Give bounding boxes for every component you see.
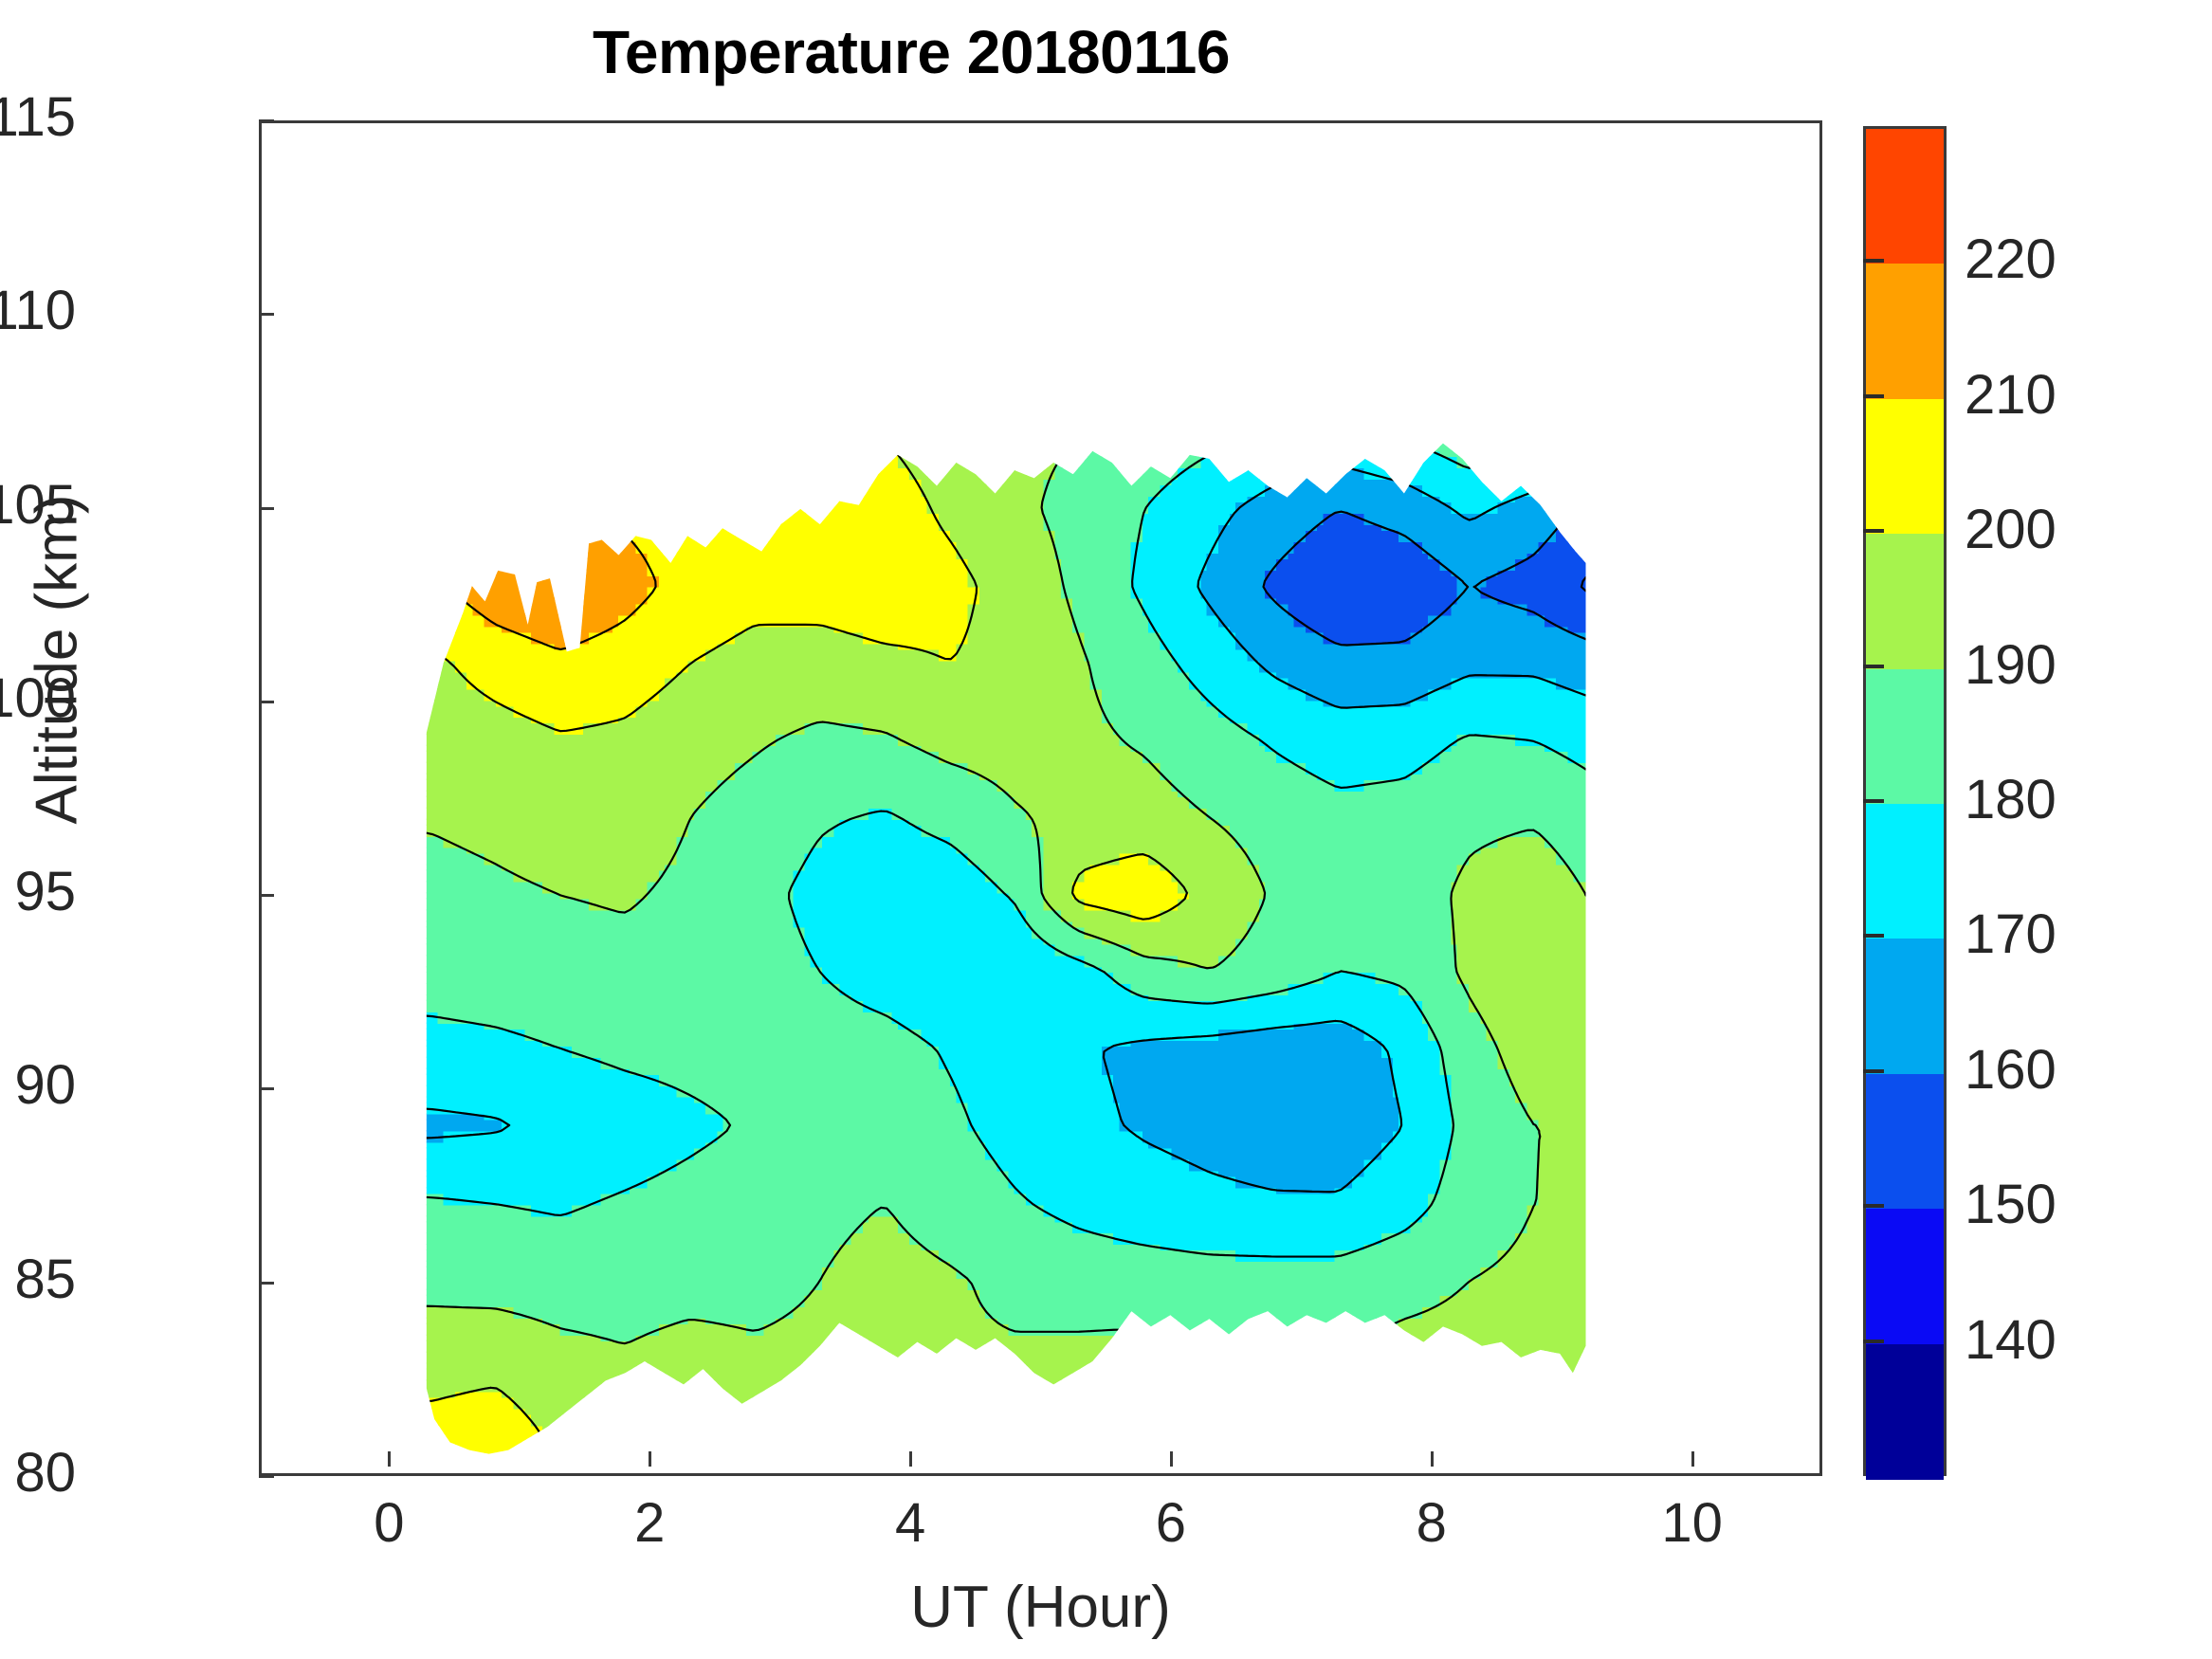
colorbar-tick-mark (1863, 529, 1884, 533)
y-tick-mark (259, 507, 274, 510)
colorbar-tick-mark (1863, 665, 1884, 668)
y-tick-mark (259, 119, 274, 122)
x-tick-label: 4 (834, 1496, 986, 1551)
y-tick-label: 90 (0, 1058, 76, 1113)
colorbar-tick-label: 170 (1965, 907, 2057, 962)
x-tick-label: 0 (313, 1496, 465, 1551)
colorbar-tick-label: 200 (1965, 502, 2057, 557)
x-tick-label: 8 (1356, 1496, 1508, 1551)
x-tick-label: 10 (1617, 1496, 1768, 1551)
contour-fill-bands (426, 439, 1586, 1454)
y-tick-mark (259, 1087, 274, 1090)
figure-canvas: Temperature 20180116 Altitude (km) UT (H… (0, 0, 2212, 1659)
colorbar-tick-mark (1863, 1204, 1884, 1208)
colorbar-tick-mark (1863, 394, 1884, 398)
x-tick-mark (909, 1451, 912, 1467)
colorbar-band (1866, 534, 1944, 669)
page-title: Temperature 20180116 (0, 17, 1822, 87)
x-tick-mark (649, 1451, 651, 1467)
y-tick-mark (259, 894, 274, 897)
y-tick-label: 85 (0, 1252, 76, 1307)
y-tick-mark (259, 1282, 274, 1285)
colorbar-band (1866, 1209, 1944, 1344)
y-tick-label: 110 (0, 283, 76, 338)
y-tick-mark (259, 1475, 274, 1478)
colorbar-band (1866, 129, 1944, 264)
colorbar-tick-label: 140 (1965, 1313, 2057, 1368)
plot-area (259, 120, 1822, 1476)
x-tick-label: 6 (1095, 1496, 1247, 1551)
colorbar-tick-mark (1863, 934, 1884, 938)
colorbar-tick-label: 160 (1965, 1043, 2057, 1098)
x-tick-mark (388, 1451, 391, 1467)
colorbar-band (1866, 1344, 1944, 1480)
colorbar-band (1866, 264, 1944, 399)
colorbar-band (1866, 399, 1944, 535)
y-tick-mark (259, 313, 274, 316)
colorbar-tick-label: 150 (1965, 1177, 2057, 1232)
y-tick-label: 105 (0, 478, 76, 533)
colorbar-tick-label: 210 (1965, 368, 2057, 423)
x-tick-mark (1691, 1451, 1694, 1467)
y-tick-label: 80 (0, 1446, 76, 1501)
colorbar-tick-label: 190 (1965, 638, 2057, 693)
y-tick-label: 100 (0, 671, 76, 726)
colorbar-band (1866, 1074, 1944, 1210)
colorbar-tick-mark (1863, 799, 1884, 803)
y-tick-mark (259, 701, 274, 703)
colorbar-tick-mark (1863, 1069, 1884, 1073)
colorbar-band (1866, 804, 1944, 939)
x-tick-mark (1431, 1451, 1434, 1467)
colorbar-band (1866, 669, 1944, 805)
x-tick-label: 2 (574, 1496, 725, 1551)
colorbar-tick-mark (1863, 1340, 1884, 1343)
y-tick-label: 115 (0, 90, 76, 145)
colorbar-tick-label: 220 (1965, 232, 2057, 287)
y-tick-label: 95 (0, 865, 76, 920)
colorbar-band (1866, 939, 1944, 1074)
colorbar-tick-mark (1863, 259, 1884, 263)
x-tick-mark (1170, 1451, 1173, 1467)
colorbar-tick-label: 180 (1965, 773, 2057, 828)
x-axis-label: UT (Hour) (259, 1574, 1822, 1641)
contour-plot (262, 123, 1819, 1473)
